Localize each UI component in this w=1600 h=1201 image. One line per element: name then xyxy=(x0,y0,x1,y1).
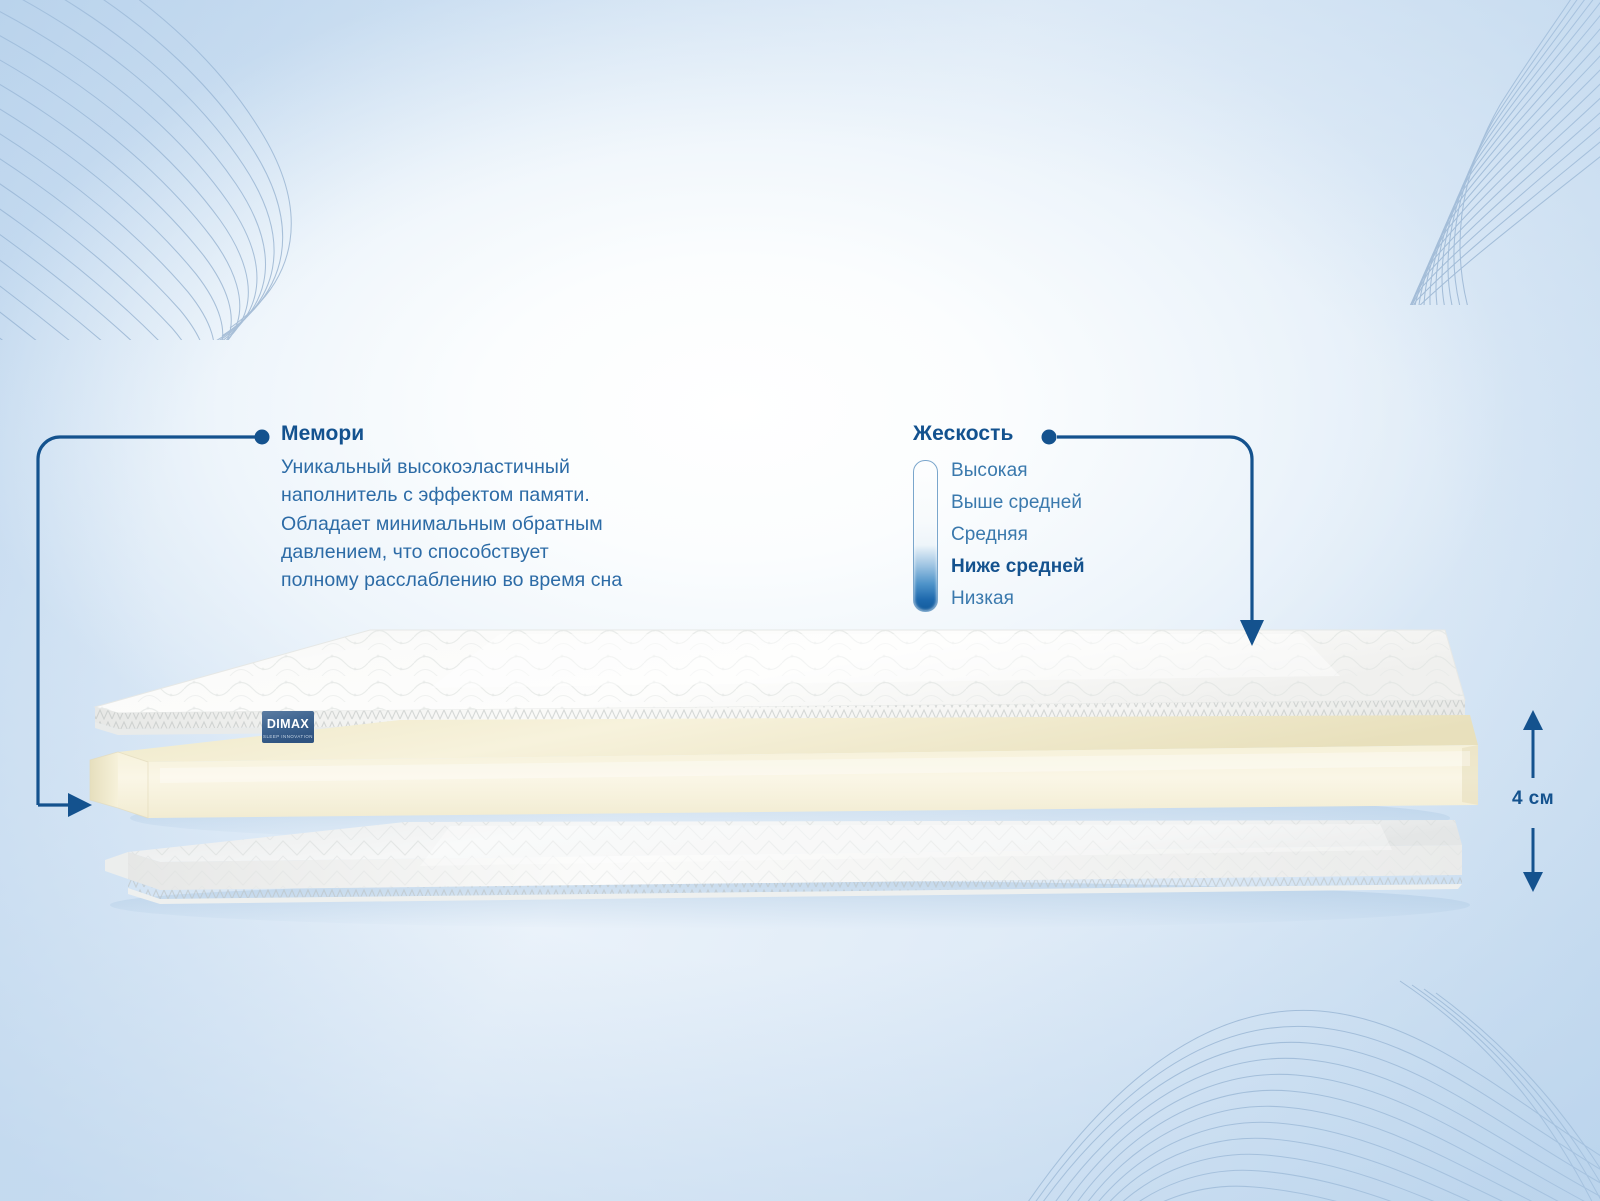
firmness-callout: Жескость Высокая Выше средней Средняя Ни… xyxy=(913,423,1243,614)
mattress-illustration: DIMAX SLEEP INNOVATION xyxy=(0,0,1600,1201)
firmness-scale-bar xyxy=(913,460,938,612)
memory-body-line: Обладает минимальным обратным xyxy=(281,510,731,538)
memory-callout-body: Уникальный высокоэластичный наполнитель … xyxy=(281,453,731,594)
height-indicator: 4 см xyxy=(1498,700,1568,900)
arrow-down-icon xyxy=(1523,872,1543,892)
memory-body-line: Уникальный высокоэластичный xyxy=(281,453,731,481)
brand-tag-subtext: SLEEP INNOVATION xyxy=(263,734,313,739)
brand-tag: DIMAX SLEEP INNOVATION xyxy=(262,711,314,743)
firmness-level-low: Низкая xyxy=(951,582,1085,614)
firmness-level-below-medium: Ниже средней xyxy=(951,550,1085,582)
poster-canvas: DIMAX SLEEP INNOVATION Мемори Уникальный… xyxy=(0,0,1600,1201)
memory-callout: Мемори Уникальный высокоэластичный напол… xyxy=(281,423,731,594)
arrow-up-icon xyxy=(1523,710,1543,730)
firmness-level-medium: Средняя xyxy=(951,518,1085,550)
brand-tag-text: DIMAX xyxy=(267,717,310,731)
height-value: 4 см xyxy=(1498,788,1568,810)
firmness-level-above-medium: Выше средней xyxy=(951,486,1085,518)
memory-body-line: наполнитель с эффектом памяти. xyxy=(281,481,731,509)
firmness-level-high: Высокая xyxy=(951,454,1085,486)
memory-body-line: полному расслаблению во время сна xyxy=(281,566,731,594)
memory-body-line: давлением, что способствует xyxy=(281,538,731,566)
firmness-level-list: Высокая Выше средней Средняя Ниже средне… xyxy=(951,454,1085,614)
memory-callout-title: Мемори xyxy=(281,423,731,444)
firmness-callout-title: Жескость xyxy=(913,423,1243,444)
